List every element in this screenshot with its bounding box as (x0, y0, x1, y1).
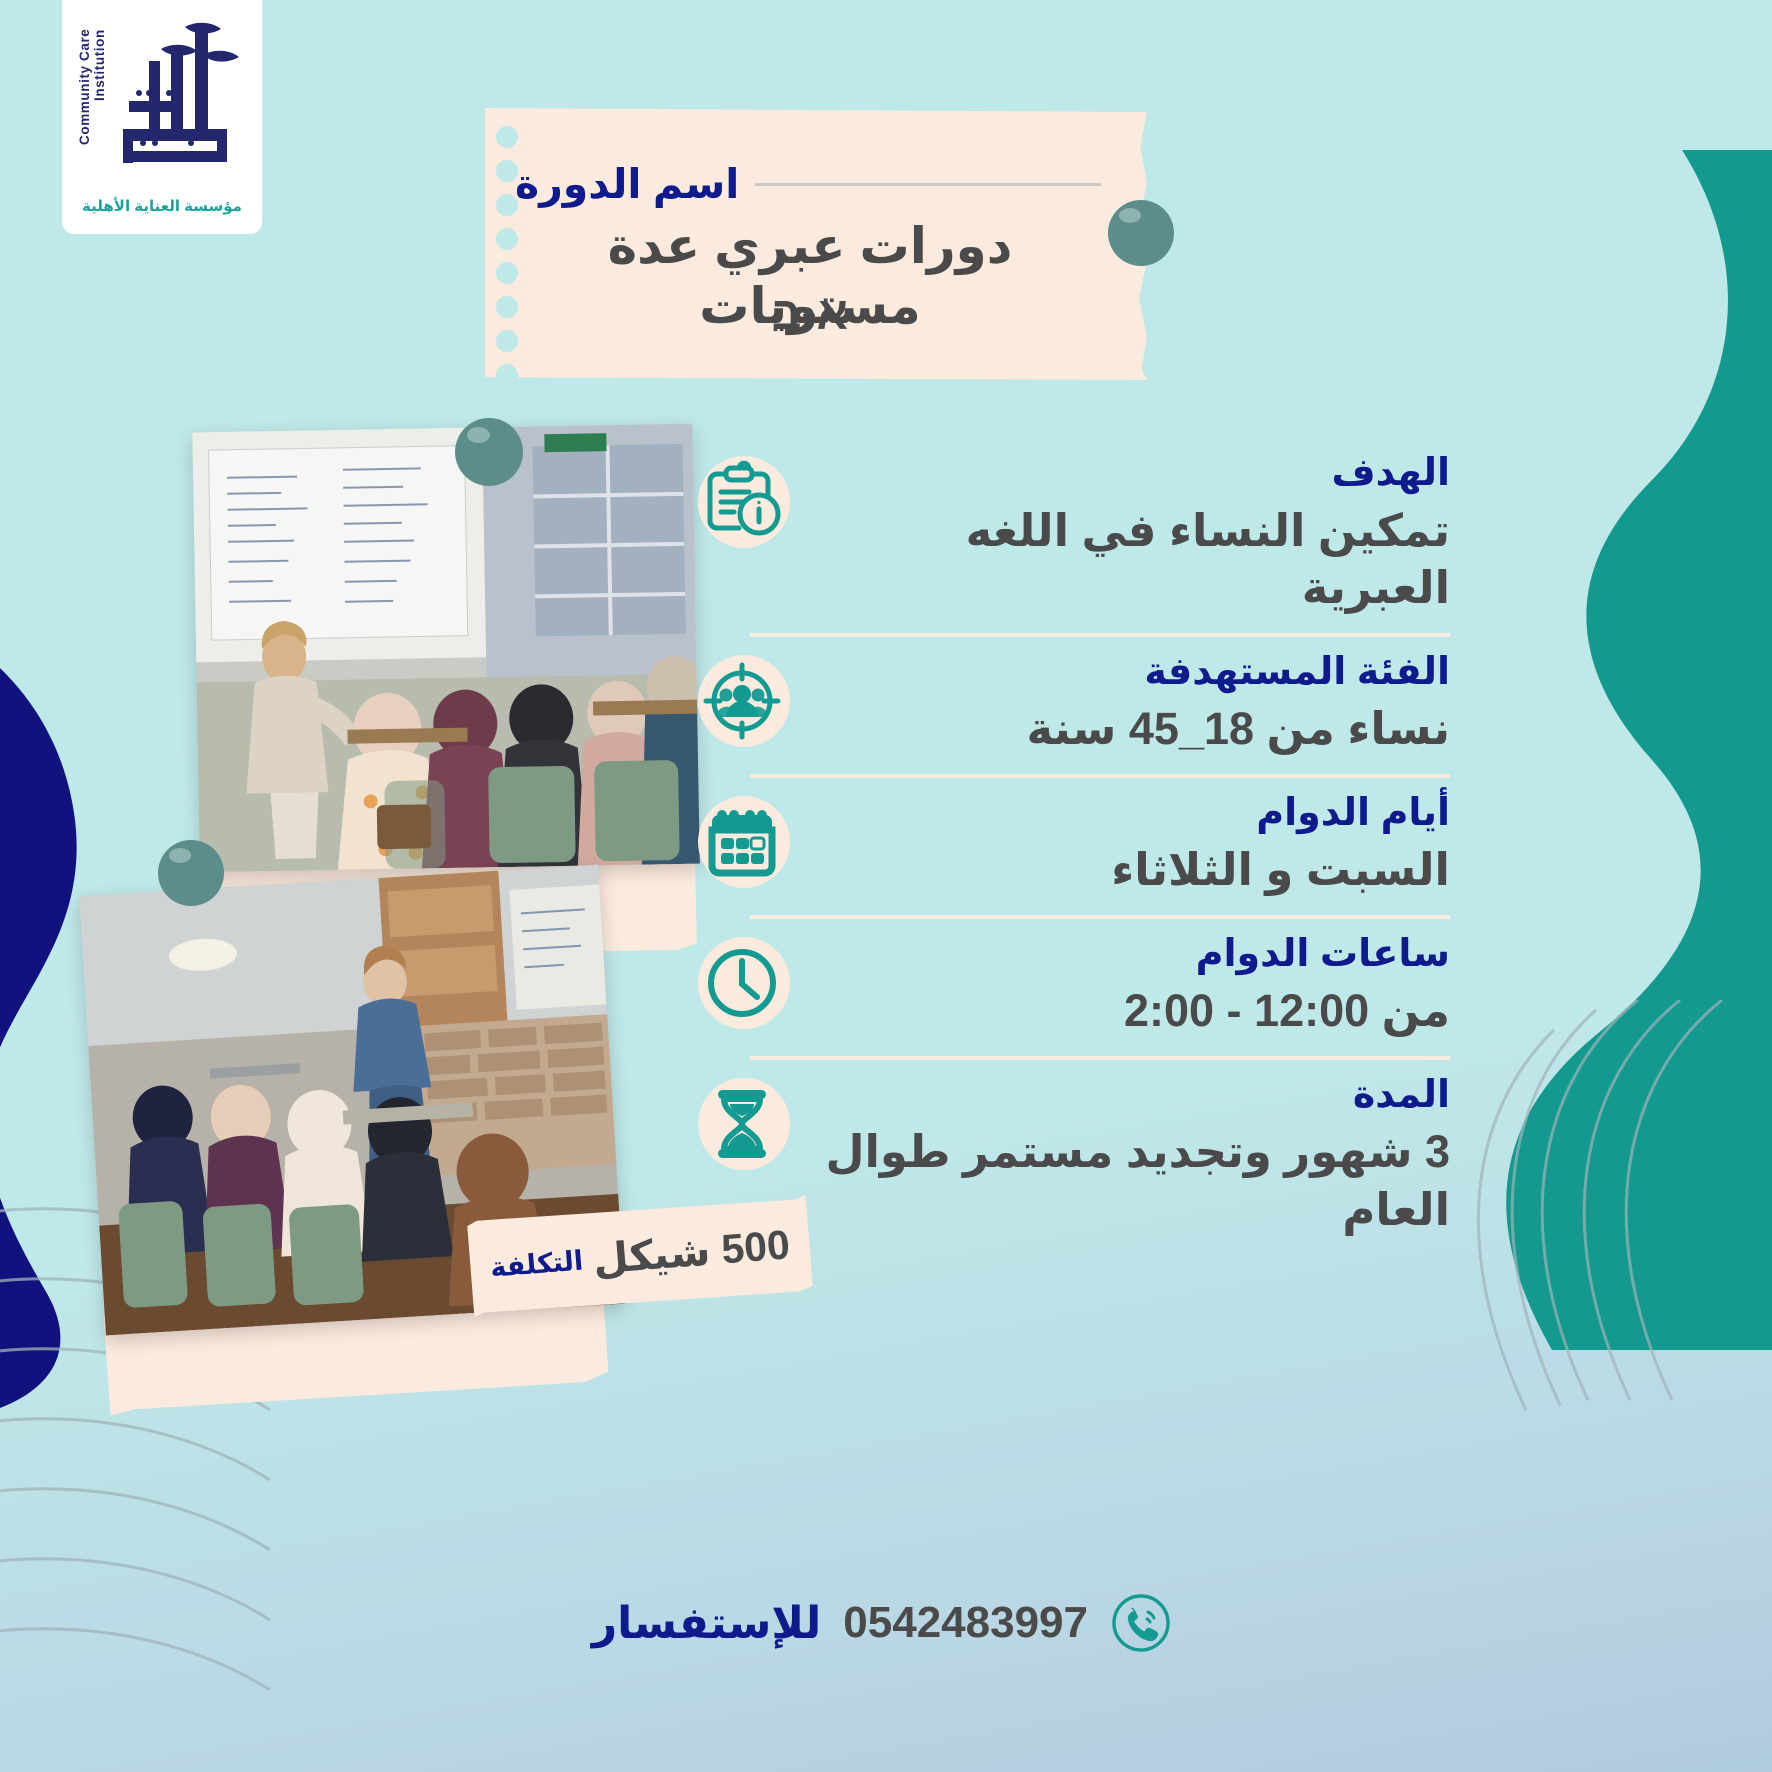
row-divider (750, 915, 1450, 919)
decorative-dot-photo-top (455, 418, 523, 486)
contact-row: للإستفسار 0542483997 (592, 1592, 1172, 1654)
row-divider (750, 774, 1450, 778)
row-divider (750, 1056, 1450, 1060)
info-row-target-audience: الفئة المستهدفة نساء من 18_45 سنة (690, 639, 1450, 772)
logo-card: Community Care Institution (62, 0, 262, 234)
info-label: أيام الدوام (820, 790, 1450, 838)
info-row-objective: الهدف تمكين النساء في اللغه العبرية (690, 440, 1450, 631)
cost-label: التكلفة (489, 1245, 584, 1283)
info-value: 3 شهور وتجديد مستمر طوال العام (820, 1123, 1450, 1238)
decorative-dot-header (1108, 200, 1174, 266)
phone-icon[interactable] (1110, 1592, 1172, 1654)
course-details-list: الهدف تمكين النساء في اللغه العبرية (690, 440, 1450, 1253)
decorative-dot-photo-bottom (158, 840, 224, 906)
row-divider (750, 633, 1450, 637)
info-value: تمكين النساء في اللغه العبرية (820, 502, 1450, 617)
contact-label: للإستفسار (592, 1598, 821, 1649)
course-name-label-row: اسم الدورة (515, 160, 1101, 208)
info-label: الفئة المستهدفة (820, 649, 1450, 697)
info-value: من 12:00 - 2:00 (820, 982, 1450, 1040)
classroom-photo-top (192, 424, 700, 873)
clock-icon (690, 931, 794, 1035)
clipboard-info-icon (690, 450, 794, 554)
course-name-card: اسم الدورة دورات عبري عدة مستويات א-ב (485, 108, 1147, 380)
calligraphy-logo-icon (99, 19, 247, 179)
target-audience-icon (690, 649, 794, 753)
info-value: نساء من 18_45 سنة (820, 700, 1450, 758)
info-row-duration: المدة 3 شهور وتجديد مستمر طوال العام (690, 1062, 1450, 1253)
info-label: المدة (820, 1072, 1450, 1120)
course-name-label: اسم الدورة (515, 160, 739, 208)
info-value: السبت و الثلاثاء (820, 841, 1450, 899)
course-poster: Community Care Institution (0, 0, 1772, 1772)
info-row-hours: ساعات الدوام من 12:00 - 2:00 (690, 921, 1450, 1054)
logo-arabic-name: مؤسسة العناية الأهلية (73, 197, 251, 215)
course-levels: א-ב (519, 286, 1101, 340)
info-label: ساعات الدوام (820, 931, 1450, 979)
calendar-icon (690, 790, 794, 894)
header-rule (755, 183, 1101, 186)
right-arc-lines-decoration (1422, 1000, 1742, 1470)
hourglass-icon (690, 1072, 794, 1176)
info-row-days: أيام الدوام السبت و الثلاثاء (690, 780, 1450, 913)
contact-phone-number[interactable]: 0542483997 (843, 1598, 1088, 1648)
info-label: الهدف (820, 450, 1450, 498)
